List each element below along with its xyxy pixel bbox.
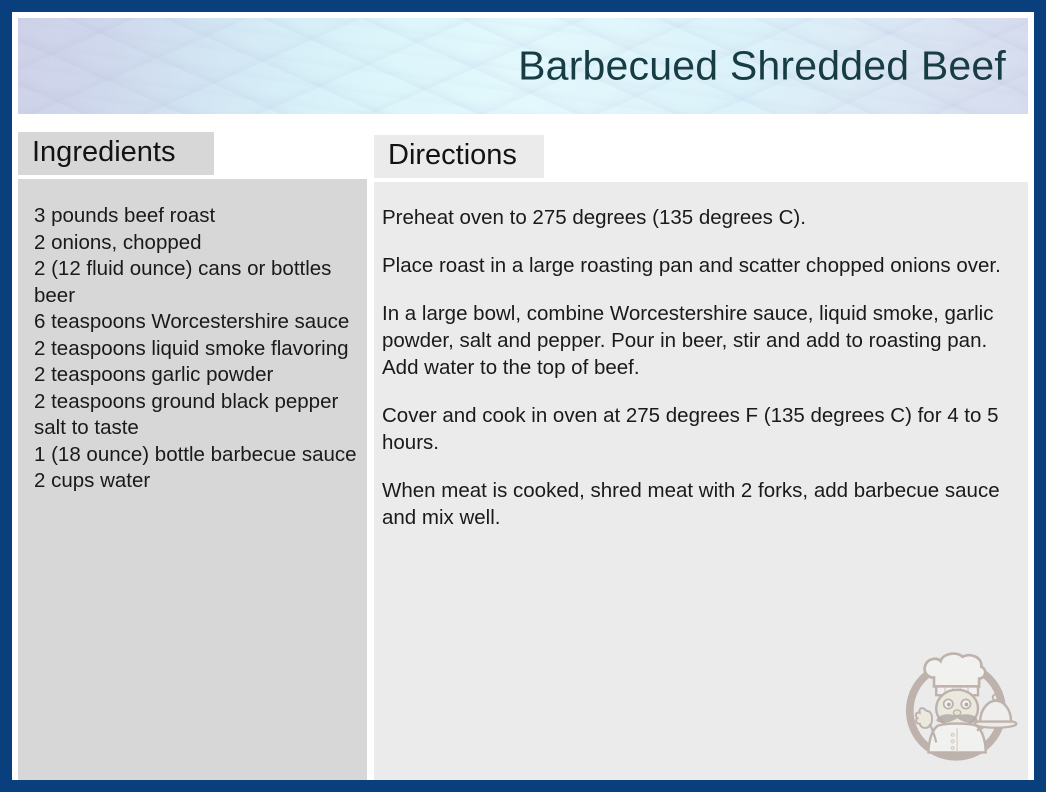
direction-step: Place roast in a large roasting pan and … <box>382 252 1002 279</box>
list-item: 2 onions, chopped <box>34 230 361 257</box>
list-item: 3 pounds beef roast <box>34 203 361 230</box>
ingredients-panel: 3 pounds beef roast 2 onions, chopped 2 … <box>18 179 367 780</box>
directions-steps: Preheat oven to 275 degrees (135 degrees… <box>374 182 1028 531</box>
ingredients-list: 3 pounds beef roast 2 onions, chopped 2 … <box>18 179 367 495</box>
direction-step: When meat is cooked, shred meat with 2 f… <box>382 477 1002 531</box>
directions-panel: Preheat oven to 275 degrees (135 degrees… <box>374 182 1028 780</box>
list-item: 6 teaspoons Worcestershire sauce <box>34 309 361 336</box>
ingredients-heading: Ingredients <box>18 132 214 175</box>
list-item: 1 (18 ounce) bottle barbecue sauce <box>34 442 361 469</box>
list-item: 2 teaspoons garlic powder <box>34 362 361 389</box>
list-item: salt to taste <box>34 415 361 442</box>
list-item: 2 cups water <box>34 468 361 495</box>
list-item: 2 (12 fluid ounce) cans or bottles beer <box>34 256 361 309</box>
list-item: 2 teaspoons ground black pepper <box>34 389 361 416</box>
direction-step: Cover and cook in oven at 275 degrees F … <box>382 402 1002 456</box>
direction-step: Preheat oven to 275 degrees (135 degrees… <box>382 204 1002 231</box>
directions-heading: Directions <box>374 135 544 178</box>
title-banner: Barbecued Shredded Beef <box>18 18 1028 114</box>
slide-canvas: Barbecued Shredded Beef Ingredients Dire… <box>12 12 1034 780</box>
direction-step: In a large bowl, combine Worcestershire … <box>382 300 1002 381</box>
page-title: Barbecued Shredded Beef <box>518 43 1006 90</box>
chef-mascot-logo <box>890 638 1022 770</box>
recipe-slide: Barbecued Shredded Beef Ingredients Dire… <box>0 0 1046 792</box>
list-item: 2 teaspoons liquid smoke flavoring <box>34 336 361 363</box>
